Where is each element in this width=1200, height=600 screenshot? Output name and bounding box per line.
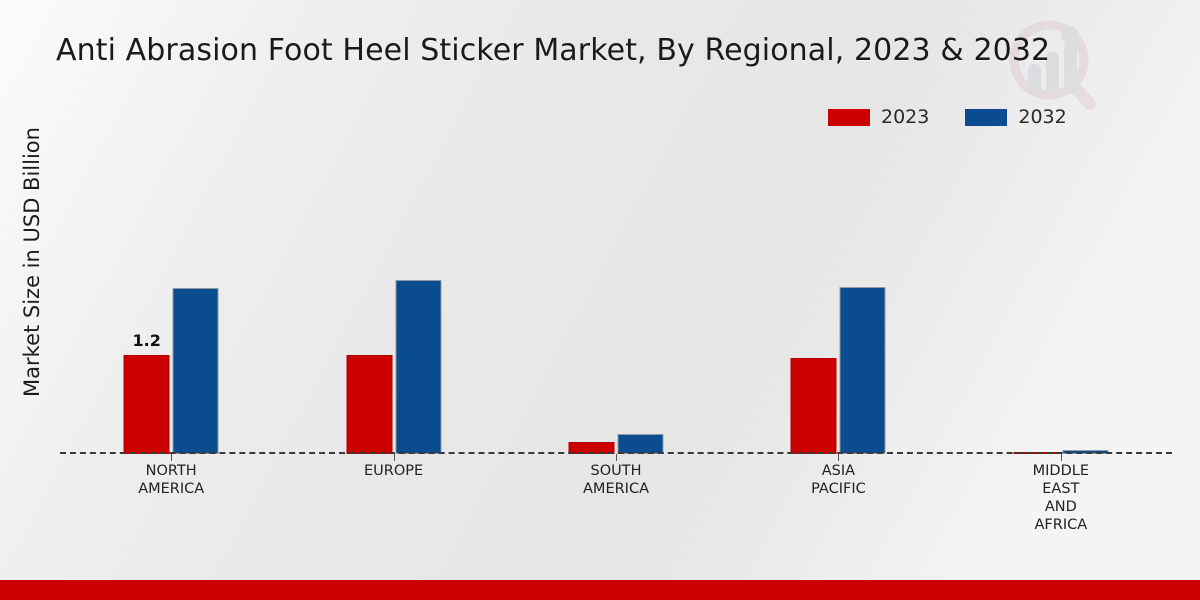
y-axis-title: Market Size in USD Billion [20, 62, 44, 462]
bar-2032[interactable] [840, 287, 886, 454]
category-label-line: AMERICA [96, 480, 246, 498]
bar-2023[interactable] [346, 355, 392, 454]
x-axis-category-label: EUROPE [319, 462, 469, 480]
bar-pair [569, 150, 664, 454]
x-axis-category-label: NORTHAMERICA [96, 462, 246, 498]
bar-pair [791, 150, 886, 454]
bar-value-label: 1.2 [133, 331, 161, 350]
bar-pair [346, 150, 441, 454]
legend-label-2023: 2023 [881, 108, 929, 127]
category-label-line: ASIA [763, 462, 913, 480]
bar-2023[interactable] [791, 358, 837, 454]
bar-2032[interactable] [395, 280, 441, 454]
bar-group: SOUTHAMERICA [505, 150, 727, 454]
legend-swatch-red-icon [828, 109, 870, 126]
legend-item-2032[interactable]: 2032 [965, 108, 1066, 127]
bar-group: MIDDLEEASTANDAFRICA [950, 150, 1172, 454]
category-label-line: MIDDLE [986, 462, 1136, 480]
category-label-line: AND [986, 498, 1136, 516]
bar-group: EUROPE [282, 150, 504, 454]
bar-pair [1013, 150, 1108, 454]
x-axis-tick [1061, 454, 1062, 461]
category-label-line: AFRICA [986, 516, 1136, 534]
x-axis-category-label: SOUTHAMERICA [541, 462, 691, 498]
bar-2023[interactable]: 1.2 [124, 355, 170, 454]
category-label-line: SOUTH [541, 462, 691, 480]
category-label-line: PACIFIC [763, 480, 913, 498]
x-axis-tick [394, 454, 395, 461]
legend-swatch-blue-icon [965, 109, 1007, 126]
bar-pair: 1.2 [124, 150, 219, 454]
footer-accent-bar [0, 580, 1200, 600]
bar-groups: 1.2NORTHAMERICAEUROPESOUTHAMERICAASIAPAC… [60, 150, 1172, 454]
category-label-line: EUROPE [319, 462, 469, 480]
category-label-line: NORTH [96, 462, 246, 480]
x-axis-baseline [60, 452, 1172, 454]
plot-area: 1.2NORTHAMERICAEUROPESOUTHAMERICAASIAPAC… [60, 150, 1172, 454]
legend-label-2032: 2032 [1018, 108, 1066, 127]
bar-group: ASIAPACIFIC [727, 150, 949, 454]
category-label-line: AMERICA [541, 480, 691, 498]
x-axis-tick [171, 454, 172, 461]
x-axis-tick [838, 454, 839, 461]
bar-2032[interactable] [173, 288, 219, 454]
chart-legend: 2023 2032 [828, 108, 1067, 127]
x-axis-category-label: ASIAPACIFIC [763, 462, 913, 498]
bar-group: 1.2NORTHAMERICA [60, 150, 282, 454]
chart-container: Anti Abrasion Foot Heel Sticker Market, … [0, 0, 1200, 600]
legend-item-2023[interactable]: 2023 [828, 108, 929, 127]
category-label-line: EAST [986, 480, 1136, 498]
chart-title: Anti Abrasion Foot Heel Sticker Market, … [56, 33, 1050, 68]
x-axis-tick [616, 454, 617, 461]
x-axis-category-label: MIDDLEEASTANDAFRICA [986, 462, 1136, 534]
